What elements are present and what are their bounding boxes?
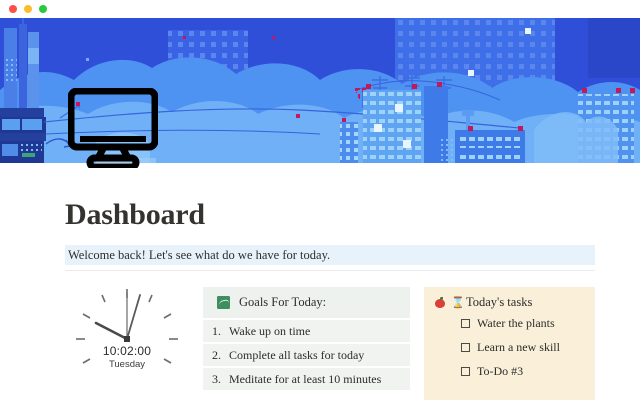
task-item[interactable]: Water the plants [461,316,555,331]
task-label: Water the plants [477,316,555,331]
chart-increasing-icon [217,296,230,309]
desktop-monitor-icon [68,88,158,168]
clock-widget: 10:02:00 Tuesday [66,287,188,392]
page-title: Dashboard [65,200,205,230]
tasks-heading: Today's tasks [466,295,532,310]
task-label: To-Do #3 [477,364,523,379]
tasks-header: ⌛ Today's tasks [435,295,532,310]
goals-heading: Goals For Today: [239,295,326,310]
minimize-button[interactable] [24,5,32,13]
app-window: Dashboard Welcome back! Let's see what d… [0,0,640,400]
task-checkbox[interactable] [461,319,470,328]
goals-panel: Goals For Today: 1. Wake up on time 2. C… [203,287,410,390]
clock-time: 10:02:00 [66,344,188,358]
window-titlebar [0,0,640,18]
welcome-text: Welcome back! Let's see what do we have … [68,248,330,263]
clock-day: Tuesday [66,359,188,370]
goal-label: Wake up on time [229,324,310,339]
goal-number: 2. [212,348,229,363]
goal-item[interactable]: 2. Complete all tasks for today [203,344,410,366]
task-checkbox[interactable] [461,367,470,376]
maximize-button[interactable] [39,5,47,13]
goal-label: Complete all tasks for today [229,348,364,363]
goal-item[interactable]: 3. Meditate for at least 10 minutes [203,368,410,390]
hourglass-icon: ⌛ [451,297,460,309]
section-divider [65,270,595,271]
goal-number: 3. [212,372,229,387]
page-body: Dashboard Welcome back! Let's see what d… [0,163,640,400]
task-item[interactable]: To-Do #3 [461,364,523,379]
close-button[interactable] [9,5,17,13]
goals-header: Goals For Today: [203,287,410,318]
task-label: Learn a new skill [477,340,560,355]
goal-number: 1. [212,324,229,339]
welcome-banner: Welcome back! Let's see what do we have … [65,245,595,265]
goal-label: Meditate for at least 10 minutes [229,372,381,387]
task-item[interactable]: Learn a new skill [461,340,560,355]
task-checkbox[interactable] [461,343,470,352]
red-apple-icon [435,297,445,308]
tasks-panel: ⌛ Today's tasks Water the plants Learn a… [424,287,595,400]
goal-item[interactable]: 1. Wake up on time [203,320,410,342]
